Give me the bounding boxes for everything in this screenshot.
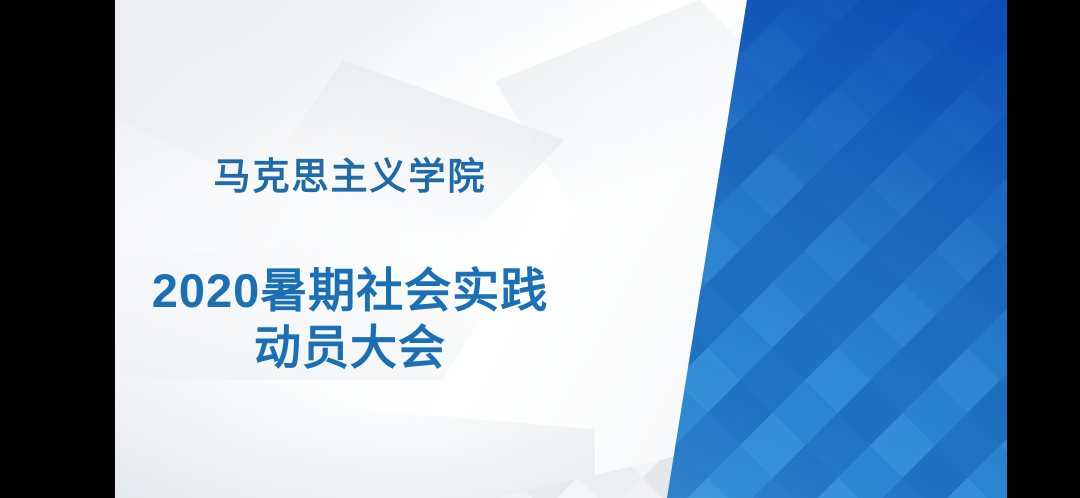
page-title: 2020暑期社会实践 动员大会 (115, 262, 585, 376)
title-text-block: 马克思主义学院 2020暑期社会实践 动员大会 (115, 0, 655, 498)
slide-canvas: 马克思主义学院 2020暑期社会实践 动员大会 (115, 0, 1007, 498)
letterbox-bar-right (1007, 0, 1080, 498)
page-title-line-1: 2020暑期社会实践 (115, 262, 585, 319)
slide-frame: 马克思主义学院 2020暑期社会实践 动员大会 (0, 0, 1080, 498)
letterbox-bar-left (0, 0, 115, 498)
organization-name: 马克思主义学院 (115, 146, 585, 200)
page-title-line-2: 动员大会 (115, 319, 585, 376)
